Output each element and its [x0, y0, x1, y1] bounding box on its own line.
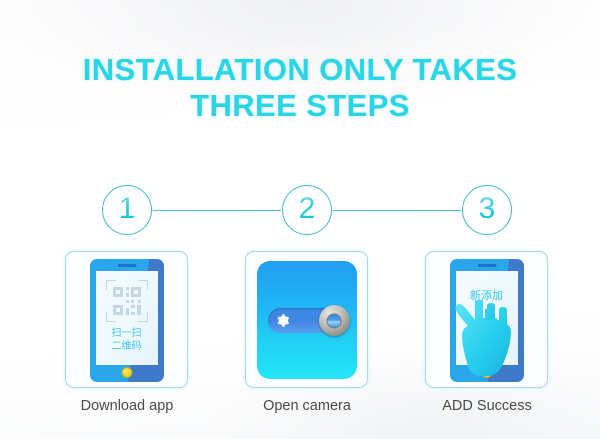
caption-download-app: Download app [37, 398, 217, 414]
step-circle-2: 2 [282, 185, 332, 235]
step-number-3: 3 [479, 194, 496, 227]
phone-illustration-1: 扫一扫 二维码 [90, 259, 164, 382]
step-circle-3: 3 [462, 185, 512, 235]
caption-add-success: ADD Success [397, 398, 577, 414]
step-connector-1 [153, 210, 281, 212]
toggle-switch[interactable] [268, 308, 346, 333]
qr-code-icon [113, 287, 141, 315]
toggle-knob-center [327, 313, 342, 328]
pointing-hand-icon [454, 300, 514, 378]
gear-icon [275, 313, 290, 328]
page-title-line-1: INSTALLATION ONLY TAKES [0, 52, 600, 88]
infographic-page: INSTALLATION ONLY TAKES THREE STEPS 1 2 … [0, 0, 600, 439]
step-circle-1: 1 [102, 185, 152, 235]
step-connector-2 [333, 210, 461, 212]
card-add-success: 新添加 [425, 251, 548, 388]
settings-panel-illustration [257, 261, 357, 379]
phone-speaker-icon [117, 264, 136, 267]
page-title: INSTALLATION ONLY TAKES THREE STEPS [0, 52, 600, 124]
page-title-line-2: THREE STEPS [0, 88, 600, 124]
qr-scan-frame [106, 280, 148, 322]
phone-home-button-1 [121, 367, 132, 378]
illustration-cards: 扫一扫 二维码 [0, 251, 600, 391]
toggle-knob[interactable] [319, 305, 350, 336]
scan-text-line-2: 二维码 [96, 340, 158, 353]
phone-speaker-icon-3 [477, 264, 496, 267]
card-download-app: 扫一扫 二维码 [65, 251, 188, 388]
scan-text-line-1: 扫一扫 [96, 327, 158, 340]
step-indicator: 1 2 3 [0, 185, 600, 241]
caption-open-camera: Open camera [217, 398, 397, 414]
step-number-1: 1 [119, 194, 136, 227]
step-number-2: 2 [299, 194, 316, 227]
card-open-camera [245, 251, 368, 388]
phone-screen-1: 扫一扫 二维码 [96, 271, 158, 365]
scan-instruction-text: 扫一扫 二维码 [96, 327, 158, 353]
card-captions: Download app Open camera ADD Success [0, 398, 600, 420]
